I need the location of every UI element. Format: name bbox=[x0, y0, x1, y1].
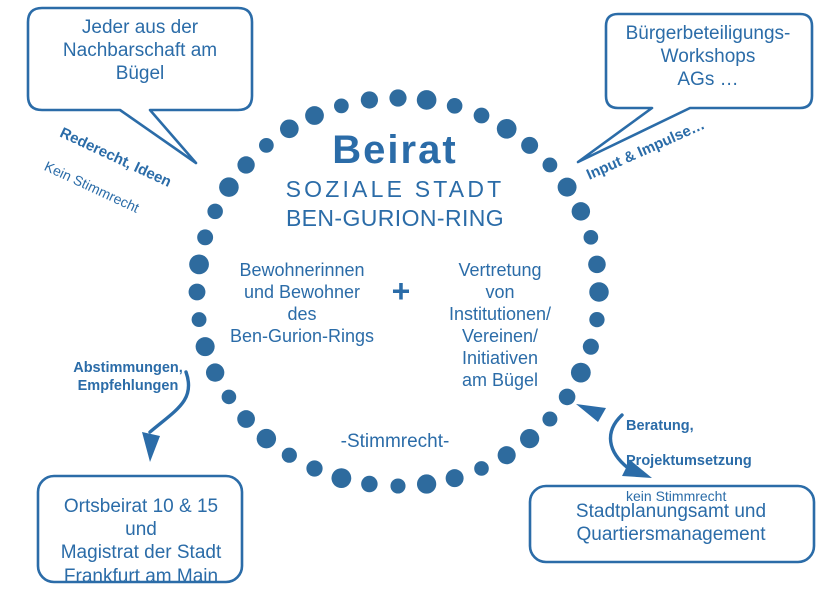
ring-dot bbox=[474, 108, 490, 124]
ring-dot bbox=[306, 460, 322, 476]
bubble-top-right-text: Bürgerbeteiligungs- Workshops AGs … bbox=[602, 22, 814, 92]
ring-dot bbox=[446, 469, 464, 487]
ring-column-right: Vertretung von Institutionen/ Vereinen/ … bbox=[420, 260, 580, 392]
diagram-canvas: Jeder aus der Nachbarschaft am Bügel Bür… bbox=[0, 0, 820, 600]
ring-dot bbox=[447, 98, 463, 114]
ring-dot bbox=[305, 106, 324, 125]
ring-subtitle-soziale-stadt: SOZIALE STADT bbox=[235, 175, 555, 203]
ring-dot bbox=[282, 448, 297, 463]
ring-dot bbox=[237, 410, 255, 428]
label-input-impulse: Input & Impulse… bbox=[584, 95, 756, 185]
bubble-top-left-text: Jeder aus der Nachbarschaft am Bügel bbox=[34, 16, 246, 86]
plus-icon: + bbox=[385, 272, 417, 311]
label-beratung-line2: Projektumsetzung bbox=[626, 453, 820, 471]
ring-dot bbox=[417, 474, 436, 493]
ring-dot bbox=[361, 91, 378, 108]
ring-dot bbox=[474, 461, 489, 476]
ring-dot bbox=[206, 363, 224, 381]
ring-dot bbox=[417, 90, 437, 110]
label-abstimmungen-empfehlungen: Abstimmungen, Empfehlungen bbox=[48, 360, 208, 395]
ring-subtitle-ben-gurion-ring: BEN-GURION-RING bbox=[235, 204, 555, 232]
ring-footer-stimmrecht: -Stimmrecht- bbox=[300, 430, 490, 453]
label-rederecht-ideen: Rederecht, Ideen Kein Stimmrecht bbox=[34, 108, 262, 279]
ring-dot bbox=[257, 429, 276, 448]
ring-title: Beirat bbox=[235, 126, 555, 175]
box-bottom-left-text: Ortsbeirat 10 & 15 und Magistrat der Sta… bbox=[36, 495, 246, 588]
ring-dot bbox=[583, 339, 599, 355]
ring-dot bbox=[572, 202, 590, 220]
ring-dot bbox=[589, 312, 604, 327]
ring-dot bbox=[361, 476, 377, 492]
ring-dot bbox=[584, 230, 599, 245]
ring-dot bbox=[520, 429, 539, 448]
label-beratung-line3: kein Stimmrecht bbox=[626, 488, 820, 505]
ring-dot bbox=[542, 412, 557, 427]
label-beratung-projektumsetzung: Beratung, Projektumsetzung kein Stimmrec… bbox=[626, 400, 820, 523]
ring-dot bbox=[192, 312, 207, 327]
label-beratung-line1: Beratung, bbox=[626, 418, 820, 436]
ring-column-left: Bewohnerinnen und Bewohner des Ben-Gurio… bbox=[214, 260, 390, 348]
ring-dot bbox=[588, 256, 606, 274]
ring-dot bbox=[498, 446, 516, 464]
ring-dot bbox=[389, 89, 406, 106]
ring-dot bbox=[390, 478, 405, 493]
ring-dot bbox=[589, 282, 609, 302]
ring-dot bbox=[331, 468, 351, 488]
ring-dot bbox=[558, 178, 577, 197]
ring-dot bbox=[334, 99, 349, 114]
ring-dot bbox=[222, 390, 237, 405]
ring-dot bbox=[196, 337, 215, 356]
ring-dot bbox=[189, 284, 206, 301]
